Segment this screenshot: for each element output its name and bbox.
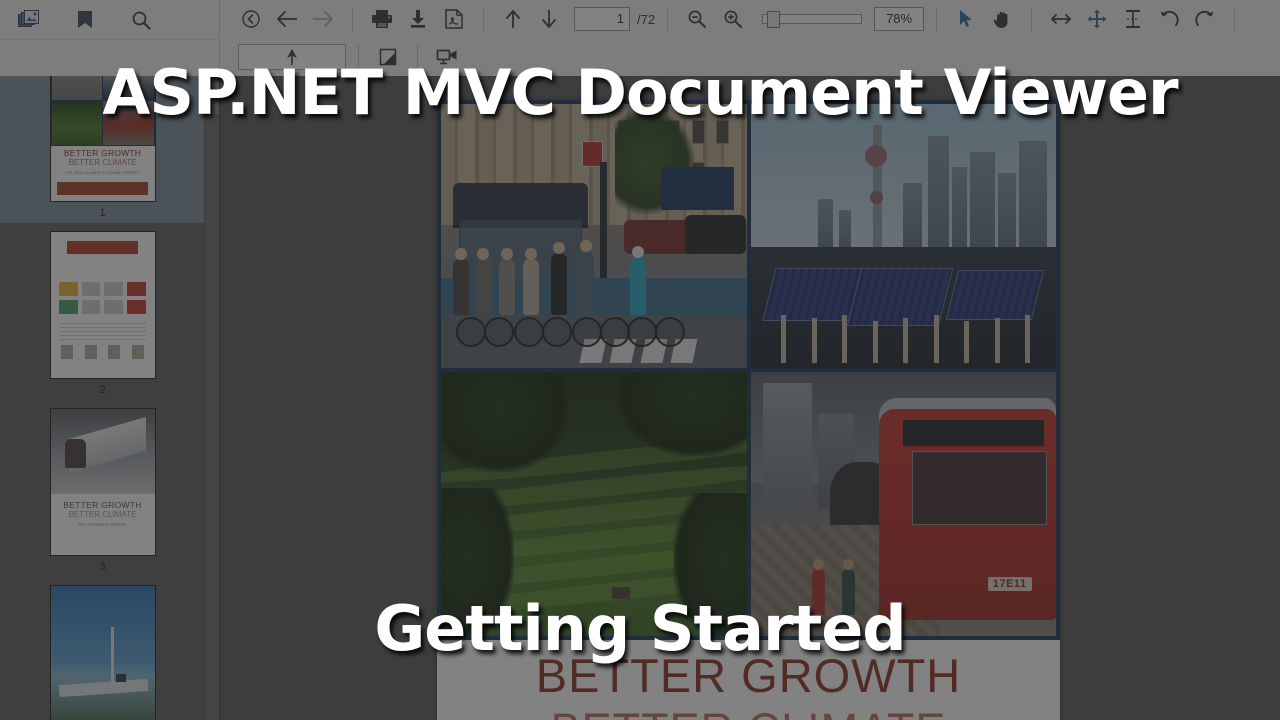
zoom-slider[interactable] xyxy=(762,14,862,24)
arrow-left-icon[interactable] xyxy=(270,4,304,34)
zoom-level-input[interactable]: 78% xyxy=(874,7,924,31)
toolbar-divider xyxy=(1234,7,1235,31)
mini-logo xyxy=(59,300,78,314)
thumbnail-preview-3: BETTER GROWTH BETTER CLIMATE THE SYNTHES… xyxy=(50,408,156,556)
mini-subtitle: BETTER CLIMATE xyxy=(51,510,155,519)
bus-windshield xyxy=(912,451,1046,525)
main-toolbar-row-2 xyxy=(220,38,1280,76)
document-page-subtitle: BETTER CLIMATE xyxy=(437,704,1060,720)
mini-badge-icon xyxy=(108,345,120,359)
photo-terraced-rice-fields xyxy=(441,372,747,636)
mini-person xyxy=(65,439,86,468)
storefront-sign xyxy=(661,167,734,209)
mini-logo xyxy=(104,300,123,314)
mini-logo xyxy=(127,282,146,296)
cursor-icon[interactable] xyxy=(949,4,983,34)
document-canvas[interactable]: 17E11 BETTER GROWTH BETTER CLIMATE xyxy=(220,38,1280,720)
mini-icon-row xyxy=(61,343,144,361)
mini-bridge-mast xyxy=(111,627,114,688)
mini-photo-rice xyxy=(52,101,103,145)
zoom-in-icon[interactable] xyxy=(716,4,750,34)
photo-cyclists-at-bus-stop xyxy=(441,104,747,368)
search-icon[interactable] xyxy=(124,5,158,35)
document-viewer-app: BETTER GROWTH BETTER CLIMATE THE NEW CLI… xyxy=(0,0,1280,720)
mini-badge-icon xyxy=(61,345,73,359)
mini-caption-text: THE NEW CLIMATE ECONOMY REPORT xyxy=(51,170,155,175)
download-icon[interactable] xyxy=(401,4,435,34)
rotate-right-icon[interactable] xyxy=(1188,4,1222,34)
zoom-out-icon[interactable] xyxy=(680,4,714,34)
print-icon[interactable] xyxy=(365,4,399,34)
toolbar-divider xyxy=(358,45,359,69)
fit-page-icon[interactable] xyxy=(1080,4,1114,34)
thumbnail-list: BETTER GROWTH BETTER CLIMATE THE NEW CLI… xyxy=(0,38,205,720)
mini-bridge-deck xyxy=(59,679,149,697)
main-toolbar: 1 /72 xyxy=(220,0,1280,76)
mini-logo xyxy=(82,282,101,296)
mini-vehicle xyxy=(116,674,126,682)
mini-photo-bridge xyxy=(51,586,155,720)
arrow-down-icon[interactable] xyxy=(532,4,566,34)
toolbar-divider xyxy=(1031,7,1032,31)
mini-logo xyxy=(127,300,146,314)
bus-shelter-roof xyxy=(453,183,587,225)
thumbnail-page-2[interactable]: 2 xyxy=(0,223,205,400)
main-toolbar-row-1: 1 /72 xyxy=(220,0,1280,38)
thumbnail-preview-2 xyxy=(50,231,156,379)
bus-license-plate: 17E11 xyxy=(988,577,1032,591)
viewer-body: BETTER GROWTH BETTER CLIMATE THE NEW CLI… xyxy=(0,38,1280,720)
photo-shanghai-skyline-solar-panels xyxy=(751,104,1057,368)
mini-text-block xyxy=(59,323,146,341)
fit-height-icon[interactable] xyxy=(1116,4,1150,34)
back-circle-icon[interactable] xyxy=(234,4,268,34)
thumbnail-preview-4 xyxy=(50,585,156,720)
thumbnails-icon[interactable] xyxy=(12,5,46,35)
pedestrian xyxy=(842,569,855,615)
mini-title: BETTER GROWTH xyxy=(51,500,155,510)
toolbar-divider xyxy=(936,7,937,31)
arrow-up-icon[interactable] xyxy=(496,4,530,34)
thumbnail-panel[interactable]: BETTER GROWTH BETTER CLIMATE THE NEW CLI… xyxy=(0,38,220,720)
pedestrian xyxy=(812,569,825,615)
present-icon[interactable] xyxy=(430,42,464,72)
page-count-label: /72 xyxy=(637,12,655,27)
document-page-title: BETTER GROWTH xyxy=(437,648,1060,703)
mini-subtitle: BETTER CLIMATE xyxy=(51,158,155,167)
thumbnail-scrollbar[interactable] xyxy=(204,38,219,720)
zoom-slider-thumb[interactable] xyxy=(767,11,780,28)
thumbnail-number-3: 3 xyxy=(99,561,105,573)
rotate-left-icon[interactable] xyxy=(1152,4,1186,34)
document-page-1: 17E11 BETTER GROWTH BETTER CLIMATE xyxy=(437,100,1060,720)
mini-red-banner xyxy=(67,241,138,254)
shape-dropdown[interactable] xyxy=(238,44,346,70)
mini-partner-logos xyxy=(59,282,146,314)
pdf-icon[interactable] xyxy=(437,4,471,34)
thumbnail-page-3[interactable]: BETTER GROWTH BETTER CLIMATE THE SYNTHES… xyxy=(0,400,205,577)
toolbar-divider xyxy=(352,7,353,31)
thumbnail-page-4[interactable]: 4 xyxy=(0,577,205,720)
arrow-right-icon[interactable] xyxy=(306,4,340,34)
left-panel-toolbar xyxy=(0,0,220,76)
crop-icon[interactable] xyxy=(371,42,405,72)
page-number-input[interactable]: 1 xyxy=(574,7,630,31)
photo-red-brt-bus: 17E11 xyxy=(751,372,1057,636)
office-tower xyxy=(763,383,812,510)
toolbar-divider xyxy=(667,7,668,31)
mini-red-band xyxy=(57,182,149,195)
fit-width-icon[interactable] xyxy=(1044,4,1078,34)
mini-badge-icon xyxy=(85,345,97,359)
toolbar-divider xyxy=(483,7,484,31)
mini-title: BETTER GROWTH xyxy=(51,148,155,158)
mini-logo xyxy=(59,282,78,296)
mini-logo xyxy=(104,282,123,296)
mini-logo xyxy=(82,300,101,314)
hand-icon[interactable] xyxy=(985,4,1019,34)
thumbnail-preview-1: BETTER GROWTH BETTER CLIMATE THE NEW CLI… xyxy=(50,54,156,202)
thumbnail-number-1: 1 xyxy=(99,207,105,219)
toolbar-divider xyxy=(417,45,418,69)
solar-panel-array xyxy=(946,270,1044,320)
mini-photo-solar-person xyxy=(51,409,155,494)
mini-photo-bus xyxy=(103,101,154,145)
left-panel-tabs xyxy=(0,0,219,40)
mini-caption: BETTER GROWTH BETTER CLIMATE THE SYNTHES… xyxy=(51,500,155,527)
signal-pole xyxy=(600,162,607,294)
bookmark-icon[interactable] xyxy=(68,5,102,35)
mini-badge-icon xyxy=(132,345,144,359)
thumbnail-number-2: 2 xyxy=(99,384,105,396)
mini-caption: BETTER GROWTH BETTER CLIMATE THE NEW CLI… xyxy=(51,148,155,175)
bus-destination-sign xyxy=(903,420,1044,446)
mini-caption-text: THE SYNTHESIS REPORT xyxy=(51,522,155,527)
toolbar-area: 1 /72 xyxy=(0,0,1280,76)
cover-photo-grid: 17E11 xyxy=(437,100,1060,640)
